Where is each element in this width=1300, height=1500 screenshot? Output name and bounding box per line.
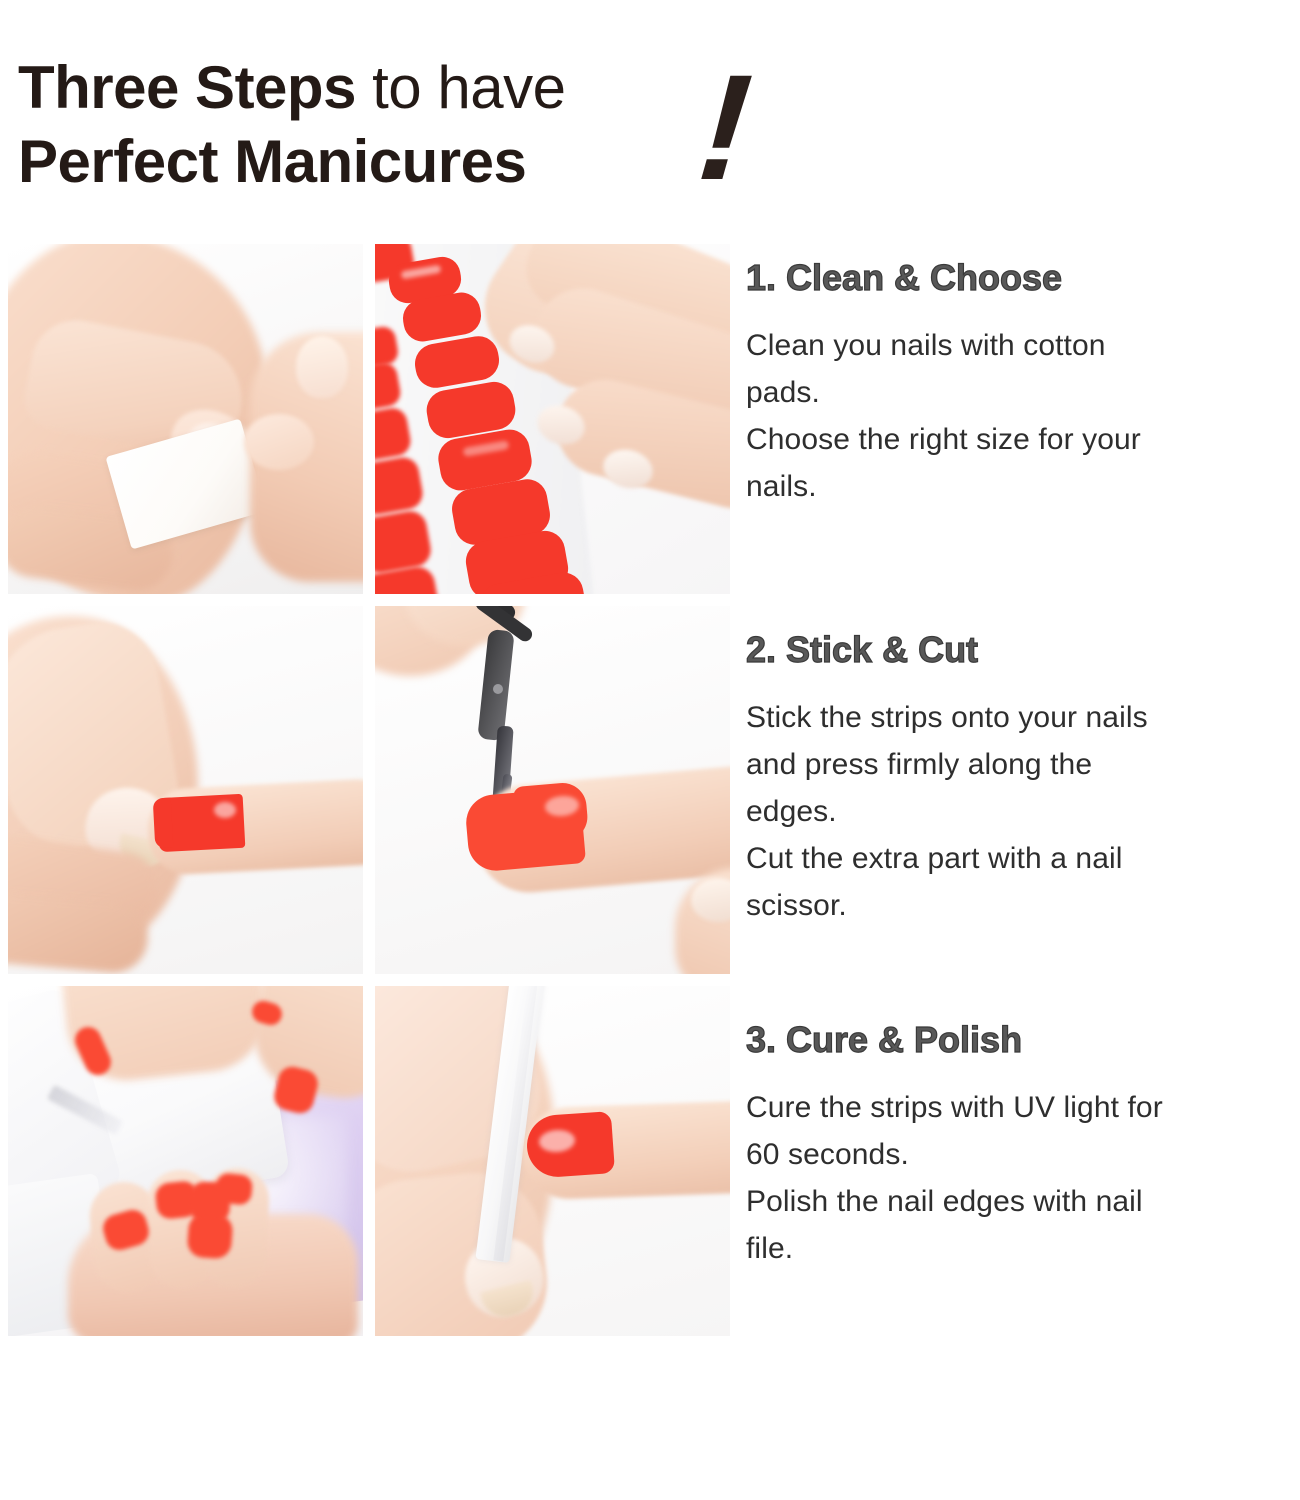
step-1-heading: 1. Clean & Choose xyxy=(746,260,1298,296)
title-bold-2: Perfect Manicures xyxy=(18,128,526,195)
photo-clean-nail-with-cotton-pad xyxy=(8,244,363,594)
step-1: 1. Clean & Choose Clean you nails with c… xyxy=(746,260,1298,510)
step-2-body-line-4: Cut the extra part with a nail xyxy=(746,835,1298,882)
title-line-1: Three Steps to have xyxy=(18,58,778,118)
photo-cure-nails-in-uv-lamp xyxy=(8,986,363,1336)
step-2-heading: 2. Stick & Cut xyxy=(746,632,1298,668)
step-3-heading: 3. Cure & Polish xyxy=(746,1022,1298,1058)
photo-stick-strip-onto-nail xyxy=(8,606,363,974)
photo-polish-nail-edge-with-file xyxy=(375,986,730,1336)
instruction-infographic: Three Steps to have Perfect Manicures ! xyxy=(0,0,1300,1500)
step-2-body-line-5: scissor. xyxy=(746,882,1298,929)
step-1-body: Clean you nails with cotton pads. Choose… xyxy=(746,322,1298,510)
step-3-body-line-1: Cure the strips with UV light for xyxy=(746,1084,1298,1131)
page-title: Three Steps to have Perfect Manicures xyxy=(18,58,778,192)
photo-row-2 xyxy=(8,606,730,974)
step-2-body: Stick the strips onto your nails and pre… xyxy=(746,694,1298,929)
photo-row-3 xyxy=(8,986,730,1336)
photo-cut-extra-strip-with-scissor xyxy=(375,606,730,974)
step-1-body-line-3: Choose the right size for your xyxy=(746,416,1298,463)
title-bold-1: Three Steps xyxy=(18,54,356,121)
step-1-body-line-2: pads. xyxy=(746,369,1298,416)
step-3-body: Cure the strips with UV light for 60 sec… xyxy=(746,1084,1298,1272)
step-3-body-line-2: 60 seconds. xyxy=(746,1131,1298,1178)
step-2: 2. Stick & Cut Stick the strips onto you… xyxy=(746,632,1298,929)
photo-grid xyxy=(8,244,730,1348)
step-2-body-line-3: edges. xyxy=(746,788,1298,835)
step-2-body-line-2: and press firmly along the xyxy=(746,741,1298,788)
step-2-body-line-1: Stick the strips onto your nails xyxy=(746,694,1298,741)
step-3-body-line-3: Polish the nail edges with nail xyxy=(746,1178,1298,1225)
step-3: 3. Cure & Polish Cure the strips with UV… xyxy=(746,1022,1298,1272)
title-line-2: Perfect Manicures xyxy=(18,132,778,192)
step-1-body-line-1: Clean you nails with cotton xyxy=(746,322,1298,369)
photo-nail-strip-sheet-and-fingers xyxy=(375,244,730,594)
step-3-body-line-4: file. xyxy=(746,1225,1298,1272)
title-regular-1: to have xyxy=(356,54,566,121)
step-1-body-line-4: nails. xyxy=(746,463,1298,510)
photo-row-1 xyxy=(8,244,730,594)
